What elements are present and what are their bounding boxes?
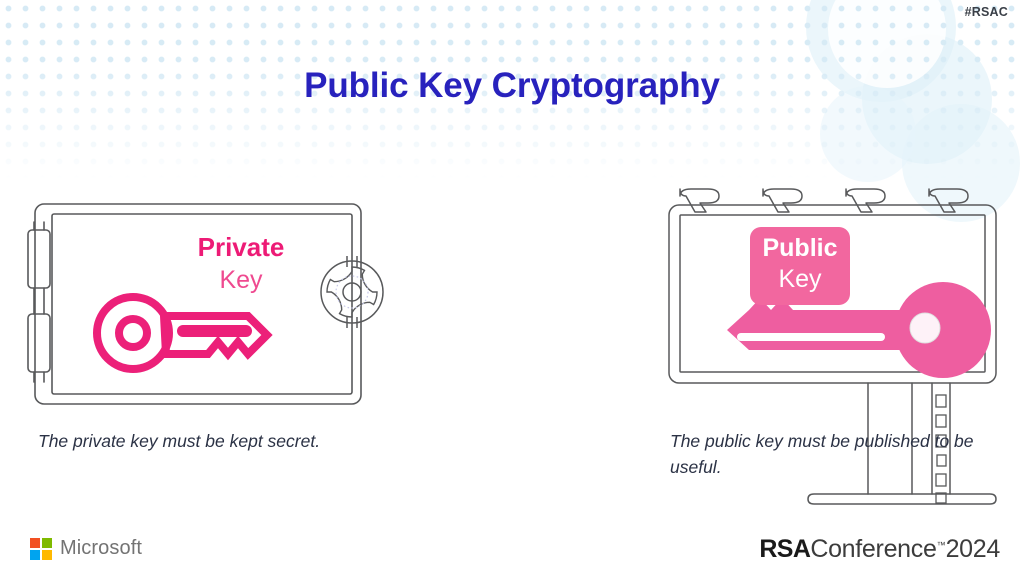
public-key-badge: Public Key xyxy=(750,227,850,305)
microsoft-wordmark: Microsoft xyxy=(60,537,142,560)
rsa-wordmark: RSA xyxy=(759,535,810,564)
slide-canvas: #RSAC Public Key Cryptography xyxy=(0,0,1024,576)
billboard-base xyxy=(808,494,996,504)
public-key-badge-line1: Public xyxy=(750,236,850,262)
rsa-year: 2024 xyxy=(946,535,1000,564)
safe-vault-illustration xyxy=(24,192,394,417)
private-key-caption: The private key must be kept secret. xyxy=(38,428,338,454)
key-shaft-bar xyxy=(177,325,252,337)
private-key-label-line1: Private xyxy=(166,234,316,261)
public-key-caption: The public key must be published to be u… xyxy=(670,428,990,480)
microsoft-logo: Microsoft xyxy=(30,537,142,560)
private-key-label: Private Key xyxy=(166,234,316,294)
billboard-lamps xyxy=(680,189,968,212)
private-key-figure: Private Key xyxy=(24,192,394,417)
microsoft-squares-icon xyxy=(30,538,52,560)
trademark-symbol: ™ xyxy=(937,540,946,550)
safe-hinge-top xyxy=(28,230,50,288)
conference-wordmark: Conference xyxy=(810,535,936,564)
safe-hinge-bottom xyxy=(28,314,50,372)
private-key-label-line2: Key xyxy=(166,267,316,293)
public-key-badge-line2: Key xyxy=(750,267,850,293)
rsa-conference-logo: RSA Conference ™ 2024 xyxy=(759,535,1000,564)
hashtag-label: #RSAC xyxy=(965,5,1008,19)
page-title: Public Key Cryptography xyxy=(0,66,1024,106)
